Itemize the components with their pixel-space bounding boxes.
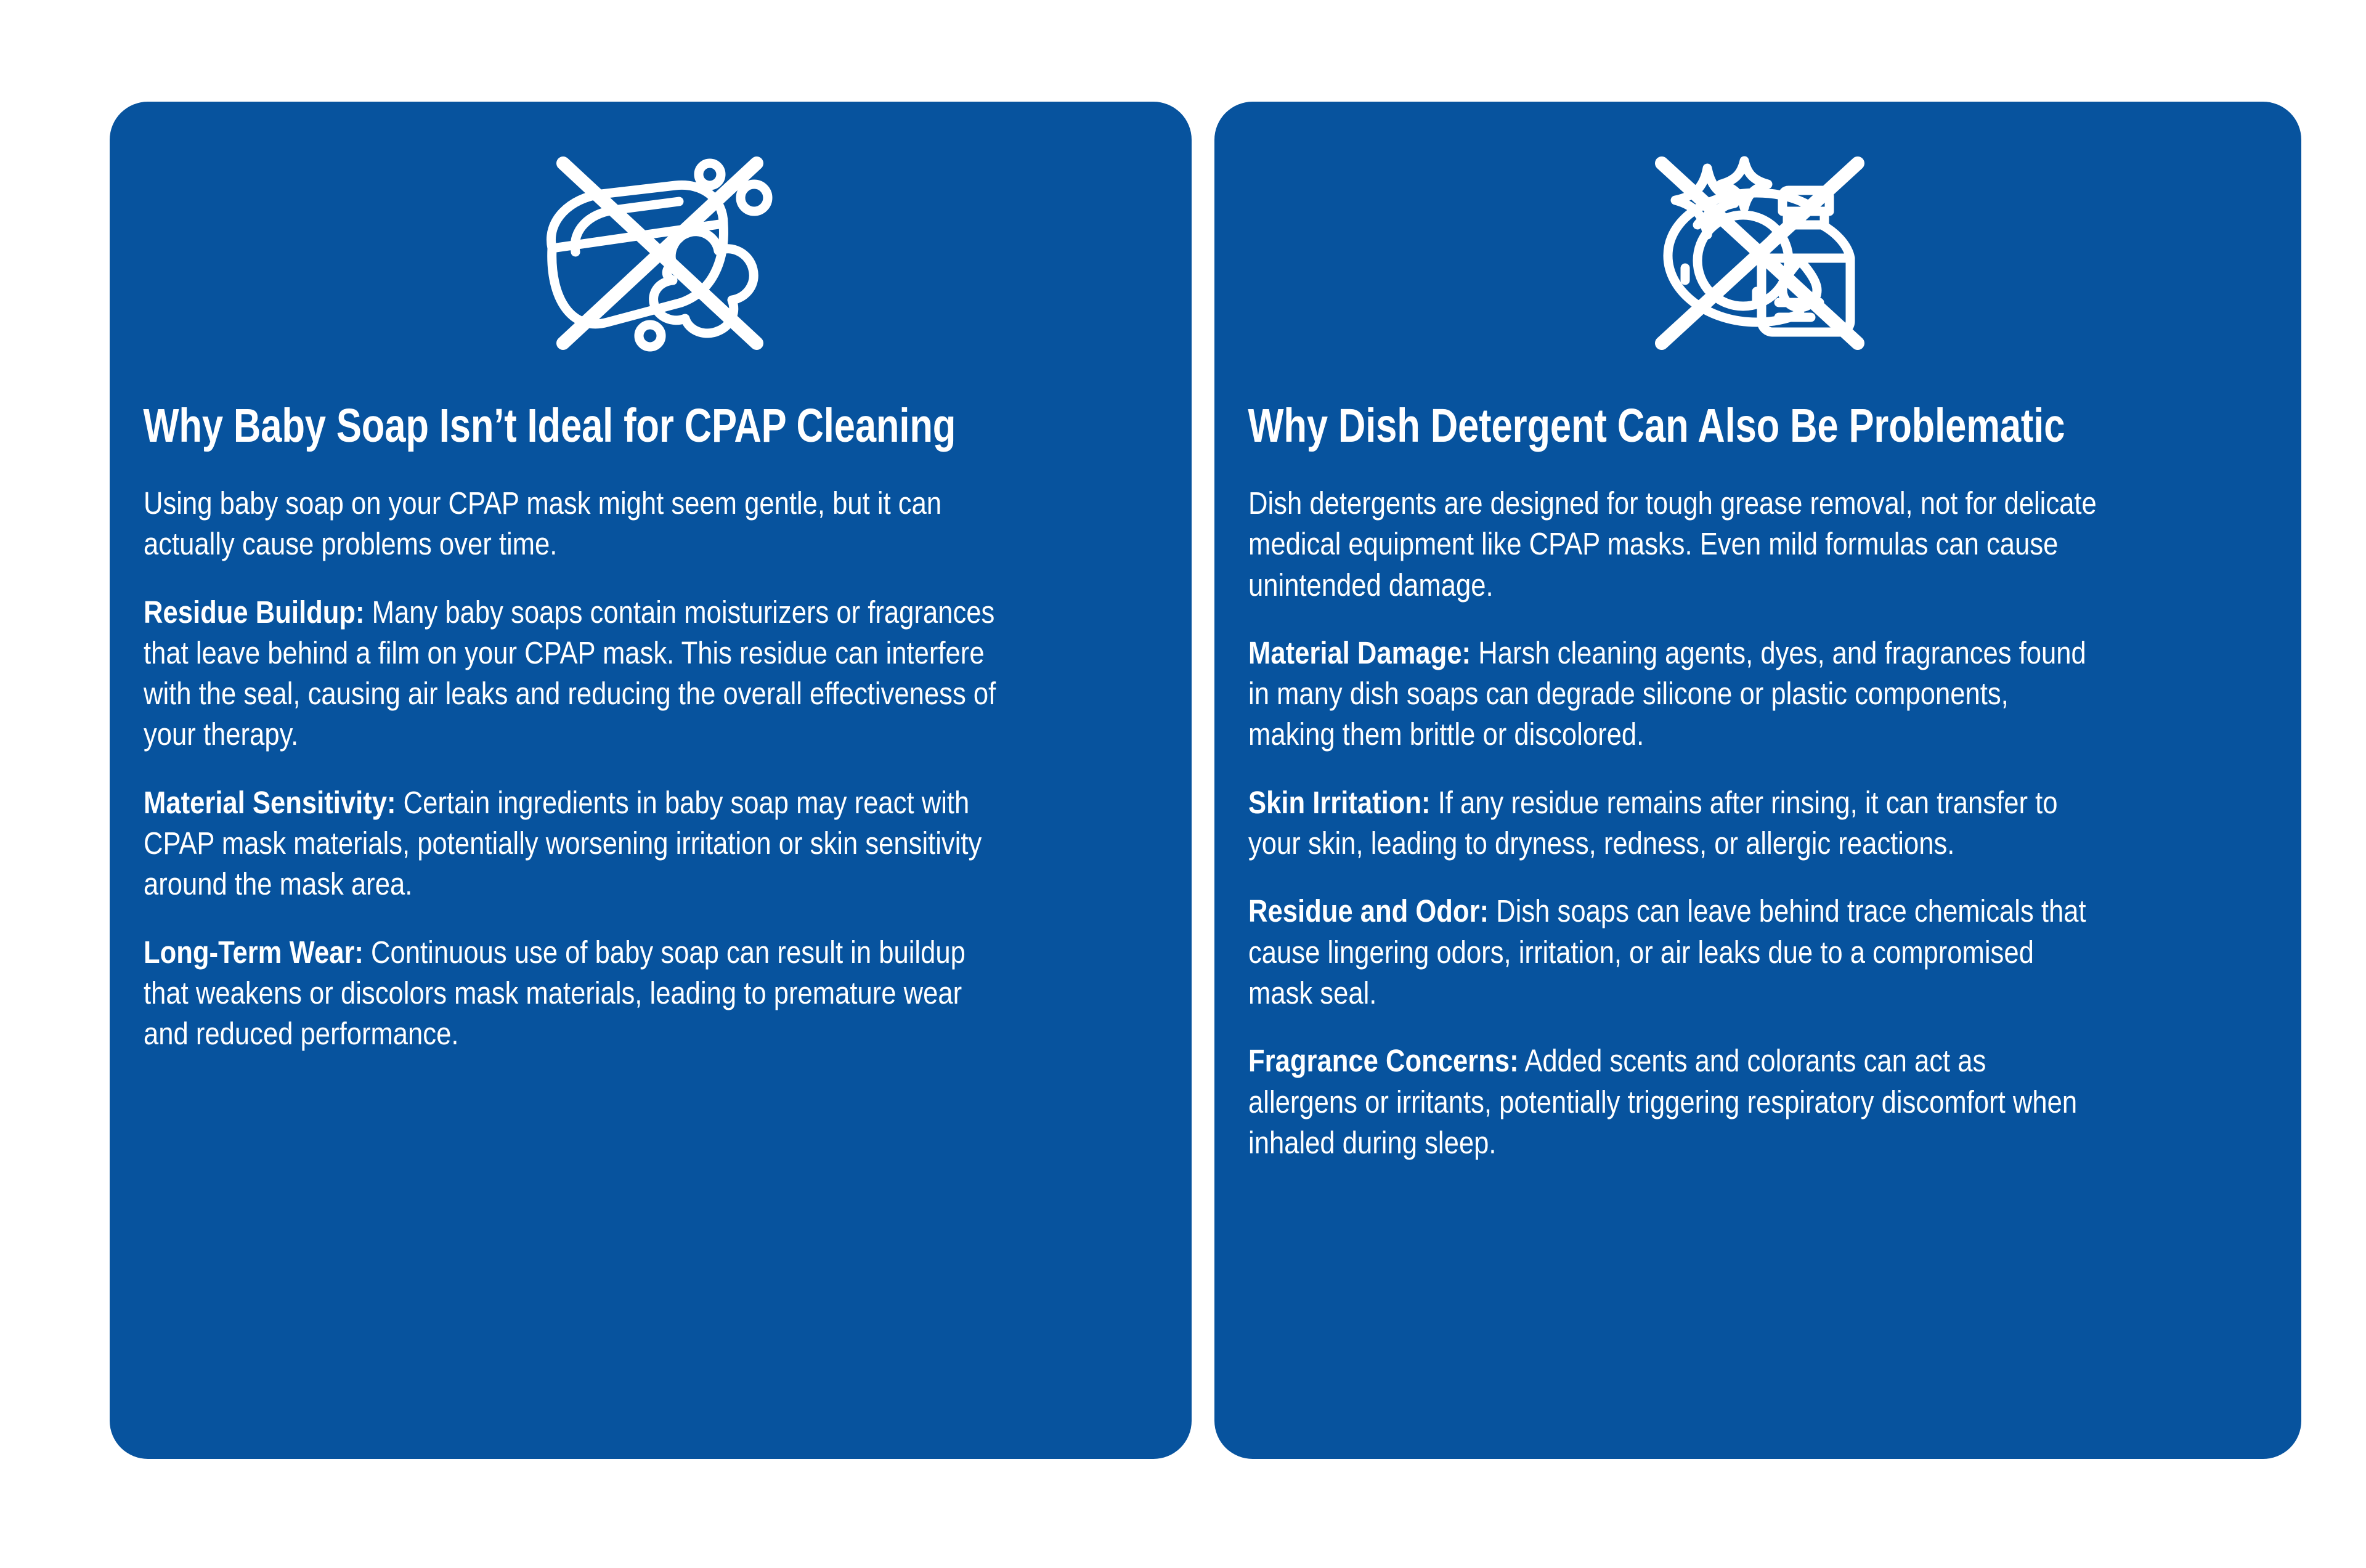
paragraph-intro: Dish detergents are designed for tough g… xyxy=(1248,483,2102,606)
no-baby-soap-bubbles-icon xyxy=(142,137,1160,402)
page-title: Why Dish Detergent Can Also Be Problemat… xyxy=(1246,402,2065,450)
paragraph-skin-irritation: Skin Irritation: If any residue remains … xyxy=(1248,782,2102,864)
card-baby-soap: Why Baby Soap Isn’t Ideal for CPAP Clean… xyxy=(110,102,1192,1459)
paragraph-lead: Residue and Odor: xyxy=(1248,893,1489,928)
paragraph-lead: Skin Irritation: xyxy=(1248,785,1431,820)
card-dish-detergent: Why Dish Detergent Can Also Be Problemat… xyxy=(1214,102,2301,1459)
paragraph-material-damage: Material Damage: Harsh cleaning agents, … xyxy=(1248,633,2102,755)
paragraph-intro: Using baby soap on your CPAP mask might … xyxy=(144,483,997,565)
card-body-dish-detergent: Dish detergents are designed for tough g… xyxy=(1246,483,2102,1163)
paragraph-fragrance-concerns: Fragrance Concerns: Added scents and col… xyxy=(1248,1041,2102,1163)
no-dish-detergent-icon xyxy=(1246,137,2269,402)
card-row: Why Baby Soap Isn’t Ideal for CPAP Clean… xyxy=(110,102,2253,1459)
paragraph-lead: Material Sensitivity: xyxy=(144,785,396,820)
paragraph-residue-buildup: Residue Buildup: Many baby soaps contain… xyxy=(144,592,997,755)
paragraph-long-term-wear: Long-Term Wear: Continuous use of baby s… xyxy=(144,932,997,1055)
paragraph-lead: Fragrance Concerns: xyxy=(1248,1043,1519,1078)
paragraph-text: Using baby soap on your CPAP mask might … xyxy=(144,485,941,561)
infographic-board: Why Baby Soap Isn’t Ideal for CPAP Clean… xyxy=(0,0,2366,1568)
paragraph-residue-and-odor: Residue and Odor: Dish soaps can leave b… xyxy=(1248,891,2102,1014)
paragraph-material-sensitivity: Material Sensitivity: Certain ingredient… xyxy=(144,782,997,905)
page-title: Why Baby Soap Isn’t Ideal for CPAP Clean… xyxy=(142,402,956,450)
paragraph-lead: Long-Term Wear: xyxy=(144,935,364,970)
card-body-baby-soap: Using baby soap on your CPAP mask might … xyxy=(142,483,997,1055)
paragraph-lead: Residue Buildup: xyxy=(144,595,365,630)
paragraph-lead: Material Damage: xyxy=(1248,635,1471,670)
paragraph-text: Dish detergents are designed for tough g… xyxy=(1248,485,2097,603)
